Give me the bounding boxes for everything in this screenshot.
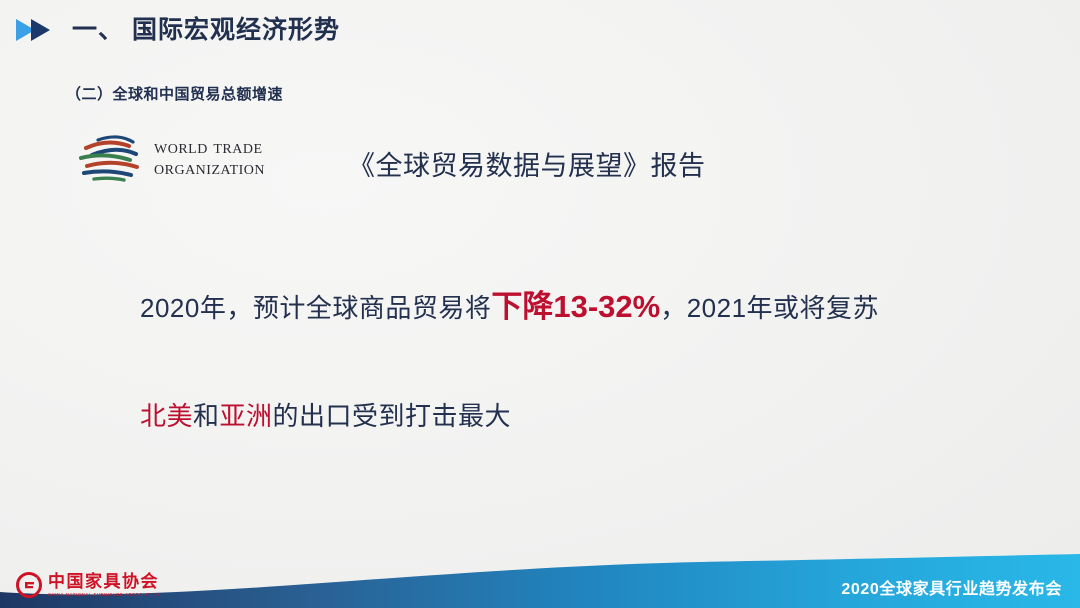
double-chevron-right-icon [14, 16, 58, 44]
association-name-en: CHINA NATIONAL FURNITURE ASSOCIATION [48, 593, 160, 597]
association-name-cn: 中国家具协会 [48, 573, 160, 590]
statement-1-part-b: ，2021年或将复苏 [660, 293, 879, 323]
association-logo: 中国家具协会 CHINA NATIONAL FURNITURE ASSOCIAT… [16, 572, 160, 598]
statement-2-red-1: 北美 [140, 401, 193, 431]
slide-heading: 一、 国际宏观经济形势 [14, 16, 340, 44]
wto-globe-arcs-icon [72, 131, 146, 185]
report-title: 《全球贸易数据与展望》报告 [348, 144, 706, 183]
statement-forecast: 2020年，预计全球商品贸易将下降13-32%，2021年或将复苏 [140, 281, 879, 326]
event-title: 2020全球家具行业趋势发布会 [841, 575, 1062, 599]
statement-regions: 北美和亚洲的出口受到打击最大 [140, 396, 511, 433]
wto-wordmark-line-2: Organization [154, 158, 265, 179]
statement-2-part-b: 的出口受到打击最大 [273, 401, 512, 431]
slide-footer: 2020全球家具行业趋势发布会 [0, 546, 1080, 608]
wto-wordmark-line-1: World Trade [154, 137, 265, 158]
statement-1-highlight: 下降13-32% [491, 289, 660, 324]
wto-logo-block: World Trade Organization [72, 131, 265, 185]
cfa-circle-arrow-icon [16, 572, 42, 598]
statement-2-red-2: 亚洲 [220, 401, 273, 431]
page-title: 一、 国际宏观经济形势 [72, 18, 340, 43]
statement-2-mid: 和 [193, 401, 220, 431]
wto-wordmark: World Trade Organization [154, 137, 265, 179]
statement-1-part-a: 2020年，预计全球商品贸易将 [140, 293, 491, 323]
association-name-block: 中国家具协会 CHINA NATIONAL FURNITURE ASSOCIAT… [48, 573, 160, 597]
slide-canvas: 一、 国际宏观经济形势 （二）全球和中国贸易总额增速 [0, 0, 1080, 608]
section-subtitle: （二）全球和中国贸易总额增速 [66, 83, 283, 104]
